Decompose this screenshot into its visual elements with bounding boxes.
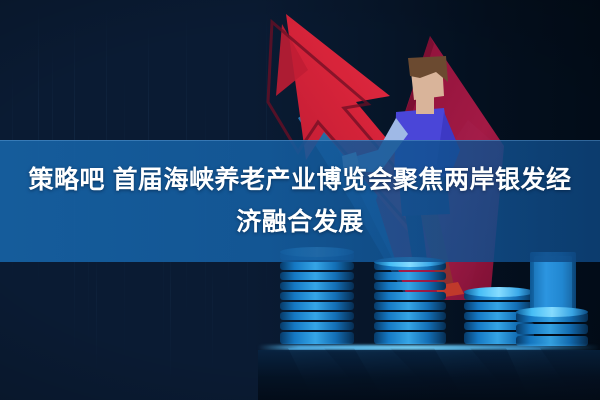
banner-image: 策略吧 首届海峡养老产业博览会聚焦两岸银发经 济融合发展	[0, 0, 600, 400]
headline: 策略吧 首届海峡养老产业博览会聚焦两岸银发经 济融合发展	[0, 140, 600, 262]
headline-line-1: 策略吧 首届海峡养老产业博览会聚焦两岸银发经	[29, 159, 572, 201]
headline-line-2: 济融合发展	[236, 201, 364, 243]
